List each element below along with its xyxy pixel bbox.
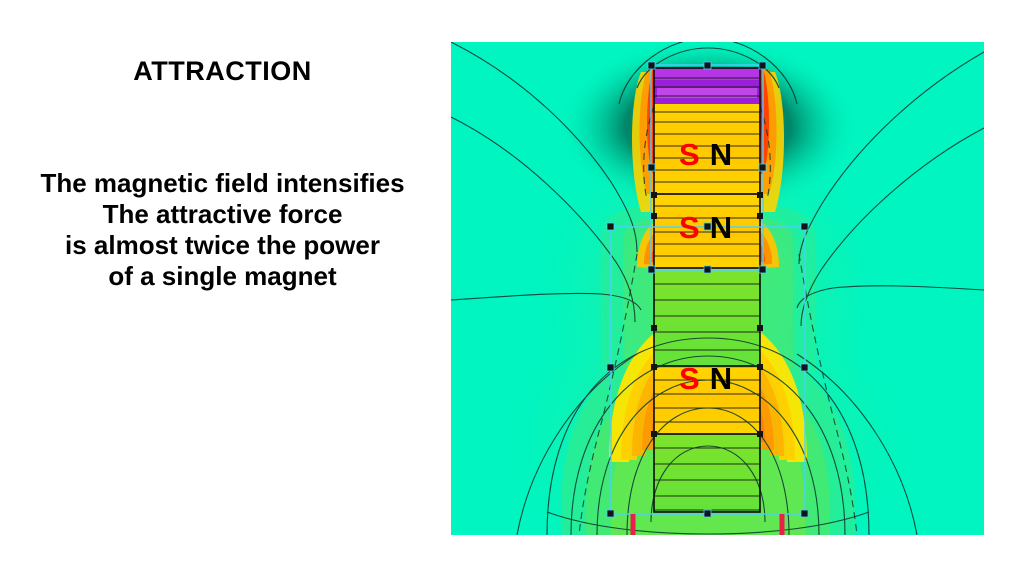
magnet-block-2 <box>654 196 760 270</box>
steel-shaft <box>654 270 760 368</box>
body-text-block: The magnetic field intensifies The attra… <box>10 168 435 292</box>
magnet-stack <box>654 68 760 512</box>
flux-density-plot <box>451 42 984 535</box>
body-line-4: of a single magnet <box>10 261 435 292</box>
page-title: ATTRACTION <box>0 56 445 87</box>
magnetic-field-simulation: SN SN SN <box>451 42 984 535</box>
body-line-2: The attractive force <box>10 199 435 230</box>
body-line-1: The magnetic field intensifies <box>10 168 435 199</box>
body-line-3: is almost twice the power <box>10 230 435 261</box>
magnet-block-3 <box>654 368 760 434</box>
